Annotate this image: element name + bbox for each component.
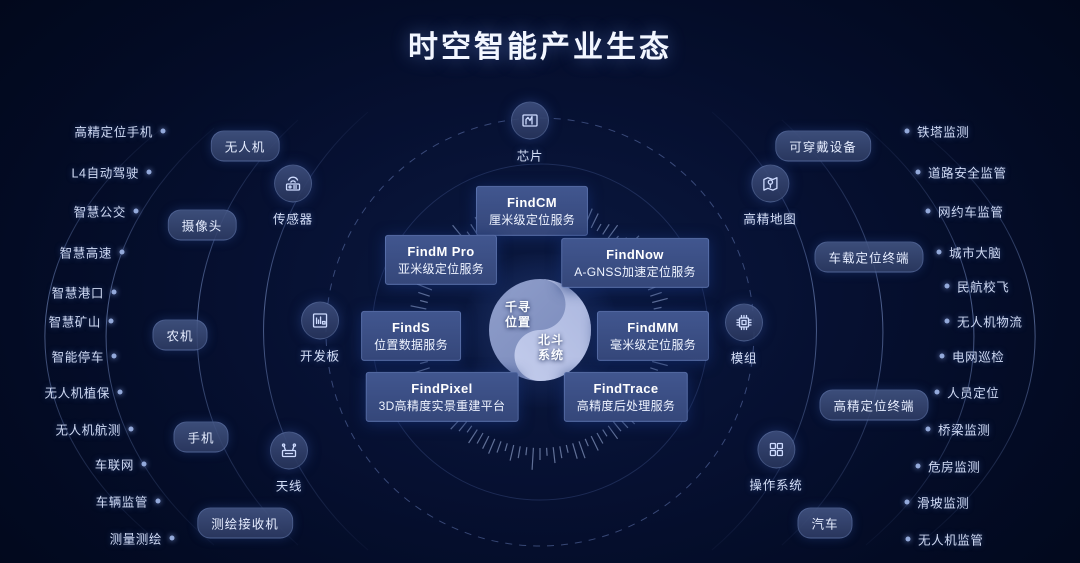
icon-node-label: 高精地图 (743, 209, 796, 228)
use-case-label[interactable]: 道路安全监管 (928, 163, 1007, 182)
use-case-label[interactable]: 高精定位手机 (74, 122, 153, 141)
product-description: 3D高精度实景重建平台 (379, 397, 506, 414)
product-box-findtrace[interactable]: FindTrace高精度后处理服务 (564, 372, 688, 422)
product-name: FindCM (489, 194, 575, 212)
use-case-label[interactable]: 测量测绘 (110, 529, 162, 548)
connector-dot-icon (905, 129, 910, 134)
connector-dot-icon (937, 250, 942, 255)
sensor-icon (274, 165, 312, 203)
product-description: 毫米级定位服务 (610, 336, 696, 353)
use-case-label[interactable]: 人员定位 (947, 383, 999, 402)
product-box-findm-pro[interactable]: FindM Pro亚米级定位服务 (385, 235, 497, 285)
category-pill-label: 农机 (152, 320, 207, 351)
connector-dot-icon (926, 209, 931, 214)
use-case-label[interactable]: 电网巡检 (952, 347, 1004, 366)
product-box-findcm[interactable]: FindCM厘米级定位服务 (476, 186, 588, 236)
category-pill-label: 无人机 (211, 131, 280, 162)
icon-node-label: 开发板 (300, 346, 340, 365)
category-pill[interactable]: 测绘接收机 (197, 508, 293, 539)
product-name: FindPixel (379, 380, 506, 398)
product-description: 亚米级定位服务 (398, 260, 484, 277)
category-pill[interactable]: 无人机 (211, 131, 280, 162)
use-case-label[interactable]: 无人机植保 (44, 383, 110, 402)
category-pill[interactable]: 车载定位终端 (814, 242, 923, 273)
use-case-label[interactable]: 桥梁监测 (938, 420, 990, 439)
chip-icon (511, 102, 549, 140)
connector-dot-icon (142, 462, 147, 467)
use-case-label[interactable]: 智慧港口 (52, 283, 104, 302)
grid-icon (757, 431, 795, 469)
icon-node-label: 传感器 (273, 209, 313, 228)
product-name: FindM Pro (398, 243, 484, 261)
category-pill[interactable]: 手机 (173, 422, 228, 453)
product-name: FindNow (574, 246, 696, 264)
connector-dot-icon (935, 390, 940, 395)
icon-node-label: 天线 (270, 476, 308, 495)
core-taiji: 千寻 位置 北斗 系统 (488, 278, 592, 382)
connector-dot-icon (118, 390, 123, 395)
core-system-line2: 系统 (538, 348, 564, 363)
product-box-findnow[interactable]: FindNowA-GNSS加速定位服务 (561, 238, 709, 288)
icon-node-label: 模组 (725, 348, 763, 367)
product-description: A-GNSS加速定位服务 (574, 263, 696, 280)
connector-dot-icon (940, 354, 945, 359)
use-case-label[interactable]: 城市大脑 (949, 243, 1001, 262)
product-description: 厘米级定位服务 (489, 211, 575, 228)
use-case-label[interactable]: 车辆监管 (96, 492, 148, 511)
devboard-icon (301, 302, 339, 340)
product-name: FindS (374, 319, 448, 337)
category-pill[interactable]: 高精定位终端 (819, 390, 928, 421)
icon-node-grid[interactable]: 操作系统 (749, 431, 802, 494)
connector-dot-icon (170, 536, 175, 541)
connector-dot-icon (134, 209, 139, 214)
product-name: FindTrace (577, 380, 675, 398)
icon-node-antenna[interactable]: 天线 (270, 432, 308, 495)
use-case-label[interactable]: 铁塔监测 (917, 122, 969, 141)
category-pill-label: 高精定位终端 (819, 390, 928, 421)
use-case-label[interactable]: L4自动驾驶 (71, 163, 139, 182)
category-pill[interactable]: 农机 (152, 320, 207, 351)
core-brand: 千寻 位置 (505, 300, 531, 330)
category-pill-label: 手机 (173, 422, 228, 453)
icon-node-devboard[interactable]: 开发板 (300, 302, 340, 365)
connector-dot-icon (926, 427, 931, 432)
connector-dot-icon (109, 319, 114, 324)
connector-dot-icon (120, 250, 125, 255)
category-pill[interactable]: 汽车 (797, 508, 852, 539)
product-box-finds[interactable]: FindS位置数据服务 (361, 311, 461, 361)
category-pill[interactable]: 摄像头 (168, 210, 237, 241)
map-pin-icon (751, 165, 789, 203)
use-case-label[interactable]: 车联网 (95, 455, 134, 474)
use-case-label[interactable]: 智慧公交 (74, 202, 126, 221)
connector-dot-icon (905, 500, 910, 505)
connector-dot-icon (112, 290, 117, 295)
product-description: 位置数据服务 (374, 336, 448, 353)
core-system: 北斗 系统 (538, 333, 564, 363)
icon-node-map-pin[interactable]: 高精地图 (743, 165, 796, 228)
connector-dot-icon (112, 354, 117, 359)
use-case-label[interactable]: 无人机航测 (55, 420, 121, 439)
category-pill-label: 测绘接收机 (197, 508, 293, 539)
icon-node-module[interactable]: 模组 (725, 304, 763, 367)
product-box-findmm[interactable]: FindMM毫米级定位服务 (597, 311, 709, 361)
category-pill-label: 摄像头 (168, 210, 237, 241)
category-pill[interactable]: 可穿戴设备 (775, 131, 871, 162)
core-brand-line1: 千寻 (505, 300, 531, 315)
taiji-icon (488, 278, 592, 382)
use-case-label[interactable]: 智能停车 (52, 347, 104, 366)
product-description: 高精度后处理服务 (577, 397, 675, 414)
icon-node-chip[interactable]: 芯片 (511, 102, 549, 165)
antenna-icon (270, 432, 308, 470)
connector-dot-icon (906, 537, 911, 542)
use-case-label[interactable]: 危房监测 (928, 457, 980, 476)
connector-dot-icon (945, 284, 950, 289)
core-system-line1: 北斗 (538, 333, 564, 348)
connector-dot-icon (916, 170, 921, 175)
category-pill-label: 可穿戴设备 (775, 131, 871, 162)
category-pill-label: 汽车 (797, 508, 852, 539)
use-case-label[interactable]: 智慧矿山 (49, 312, 101, 331)
connector-dot-icon (129, 427, 134, 432)
use-case-label[interactable]: 网约车监管 (938, 202, 1004, 221)
category-pill-label: 车载定位终端 (814, 242, 923, 273)
icon-node-label: 操作系统 (749, 475, 802, 494)
icon-node-sensor[interactable]: 传感器 (273, 165, 313, 228)
connector-dot-icon (916, 464, 921, 469)
use-case-label[interactable]: 民航校飞 (957, 277, 1009, 296)
core-brand-line2: 位置 (505, 315, 531, 330)
connector-dot-icon (147, 170, 152, 175)
product-box-findpixel[interactable]: FindPixel3D高精度实景重建平台 (366, 372, 519, 422)
icon-node-label: 芯片 (511, 146, 549, 165)
connector-dot-icon (945, 319, 950, 324)
module-icon (725, 304, 763, 342)
connector-dot-icon (161, 129, 166, 134)
use-case-label[interactable]: 滑坡监测 (917, 493, 969, 512)
use-case-label[interactable]: 无人机物流 (957, 312, 1023, 331)
use-case-label[interactable]: 智慧高速 (60, 243, 112, 262)
connector-dot-icon (156, 499, 161, 504)
page-title: 时空智能产业生态 (0, 22, 1080, 66)
product-name: FindMM (610, 319, 696, 337)
use-case-label[interactable]: 无人机监管 (918, 530, 984, 549)
